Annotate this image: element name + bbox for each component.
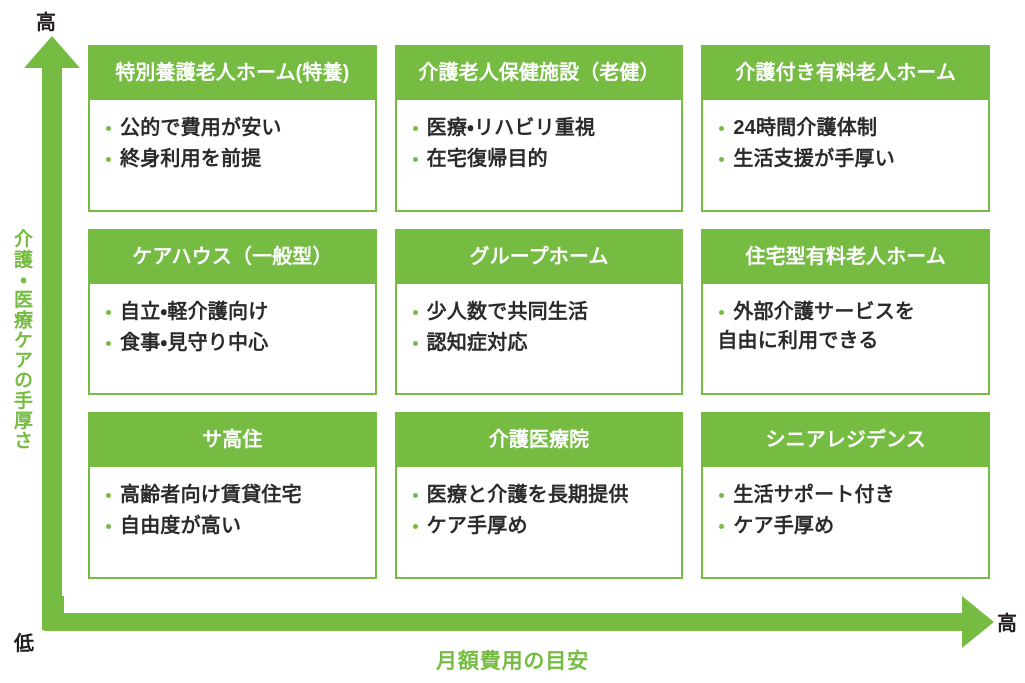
cell-title: 特別養護老人ホーム(特養) [90, 47, 375, 100]
bullet-item: ケア手厚め [411, 512, 672, 541]
bullet-item: 公的で費用が安い [104, 114, 365, 143]
cell-bullet-list: 24時間介護体制 生活支援が手厚い [717, 114, 978, 174]
matrix-cell[interactable]: グループホーム 少人数で共同生活 認知症対応 [395, 229, 684, 396]
x-axis-arrow-icon [44, 596, 994, 648]
cell-bullet-list: 医療と介護を長期提供 ケア手厚め [411, 481, 672, 541]
y-axis-high-label: 高 [36, 6, 56, 35]
bullet-item: 生活サポート付き [717, 481, 978, 510]
bullet-item: 食事・見守り中心 [104, 329, 365, 358]
cell-bullet-list: 自立・軽介護向け 食事・見守り中心 [104, 298, 365, 358]
cell-bullet-list: 生活サポート付き ケア手厚め [717, 481, 978, 541]
cell-bullet-list: 医療・リハビリ重視 在宅復帰目的 [411, 114, 672, 174]
y-axis-arrow-icon [24, 36, 80, 630]
cell-bullet-list: 高齢者向け賃貸住宅 自由度が高い [104, 481, 365, 541]
cell-title: 介護医療院 [397, 414, 682, 467]
y-axis-title: 介護・医療ケアの手厚さ [0, 190, 32, 490]
x-axis-title: 月額費用の目安 [0, 645, 1025, 675]
cell-title: ケアハウス（一般型） [90, 231, 375, 284]
bullet-item: 少人数で共同生活 [411, 298, 672, 327]
cell-bullet-list: 外部介護サービスを自由に利用できる [717, 298, 978, 356]
cell-body: 医療と介護を長期提供 ケア手厚め [397, 467, 682, 577]
bullet-item: 高齢者向け賃貸住宅 [104, 481, 365, 510]
cell-body: 自立・軽介護向け 食事・見守り中心 [90, 284, 375, 394]
bullet-item: ケア手厚め [717, 512, 978, 541]
bullet-item: 医療と介護を長期提供 [411, 481, 672, 510]
cell-body: 少人数で共同生活 認知症対応 [397, 284, 682, 394]
matrix-cell[interactable]: 介護医療院 医療と介護を長期提供 ケア手厚め [395, 412, 684, 579]
x-axis-high-label: 高 [997, 607, 1017, 636]
cell-title: シニアレジデンス [703, 414, 988, 467]
cell-body: 生活サポート付き ケア手厚め [703, 467, 988, 577]
bullet-line-2: 自由に利用できる [717, 327, 978, 356]
cell-title: グループホーム [397, 231, 682, 284]
cell-bullet-list: 公的で費用が安い 終身利用を前提 [104, 114, 365, 174]
bullet-item: 自由度が高い [104, 512, 365, 541]
bullet-item: 終身利用を前提 [104, 145, 365, 174]
bullet-item: 生活支援が手厚い [717, 145, 978, 174]
cell-title: 介護老人保健施設（老健） [397, 47, 682, 100]
bullet-item: 自立・軽介護向け [104, 298, 365, 327]
matrix-cell[interactable]: サ高住 高齢者向け賃貸住宅 自由度が高い [88, 412, 377, 579]
diagram-canvas: 高 介護・医療ケアの手厚さ 低 高 月額費用の目安 特別養護老人ホーム(特養) … [0, 0, 1025, 683]
cell-title: サ高住 [90, 414, 375, 467]
bullet-item: 外部介護サービスを自由に利用できる [717, 298, 978, 356]
matrix-cell[interactable]: シニアレジデンス 生活サポート付き ケア手厚め [701, 412, 990, 579]
bullet-item: 認知症対応 [411, 329, 672, 358]
matrix-cell[interactable]: ケアハウス（一般型） 自立・軽介護向け 食事・見守り中心 [88, 229, 377, 396]
matrix-cell[interactable]: 介護老人保健施設（老健） 医療・リハビリ重視 在宅復帰目的 [395, 45, 684, 212]
cell-bullet-list: 少人数で共同生活 認知症対応 [411, 298, 672, 358]
bullet-item: 24時間介護体制 [717, 114, 978, 143]
cell-title: 住宅型有料老人ホーム [703, 231, 988, 284]
matrix-cell[interactable]: 介護付き有料老人ホーム 24時間介護体制 生活支援が手厚い [701, 45, 990, 212]
matrix-cell[interactable]: 住宅型有料老人ホーム 外部介護サービスを自由に利用できる [701, 229, 990, 396]
bullet-item: 在宅復帰目的 [411, 145, 672, 174]
cell-body: 医療・リハビリ重視 在宅復帰目的 [397, 100, 682, 210]
facility-matrix: 特別養護老人ホーム(特養) 公的で費用が安い 終身利用を前提 介護老人保健施設（… [88, 45, 990, 579]
cell-body: 24時間介護体制 生活支援が手厚い [703, 100, 988, 210]
cell-body: 公的で費用が安い 終身利用を前提 [90, 100, 375, 210]
matrix-cell[interactable]: 特別養護老人ホーム(特養) 公的で費用が安い 終身利用を前提 [88, 45, 377, 212]
bullet-line-1: 外部介護サービスを [733, 301, 915, 323]
bullet-item: 医療・リハビリ重視 [411, 114, 672, 143]
cell-title: 介護付き有料老人ホーム [703, 47, 988, 100]
cell-body: 外部介護サービスを自由に利用できる [703, 284, 988, 394]
cell-body: 高齢者向け賃貸住宅 自由度が高い [90, 467, 375, 577]
